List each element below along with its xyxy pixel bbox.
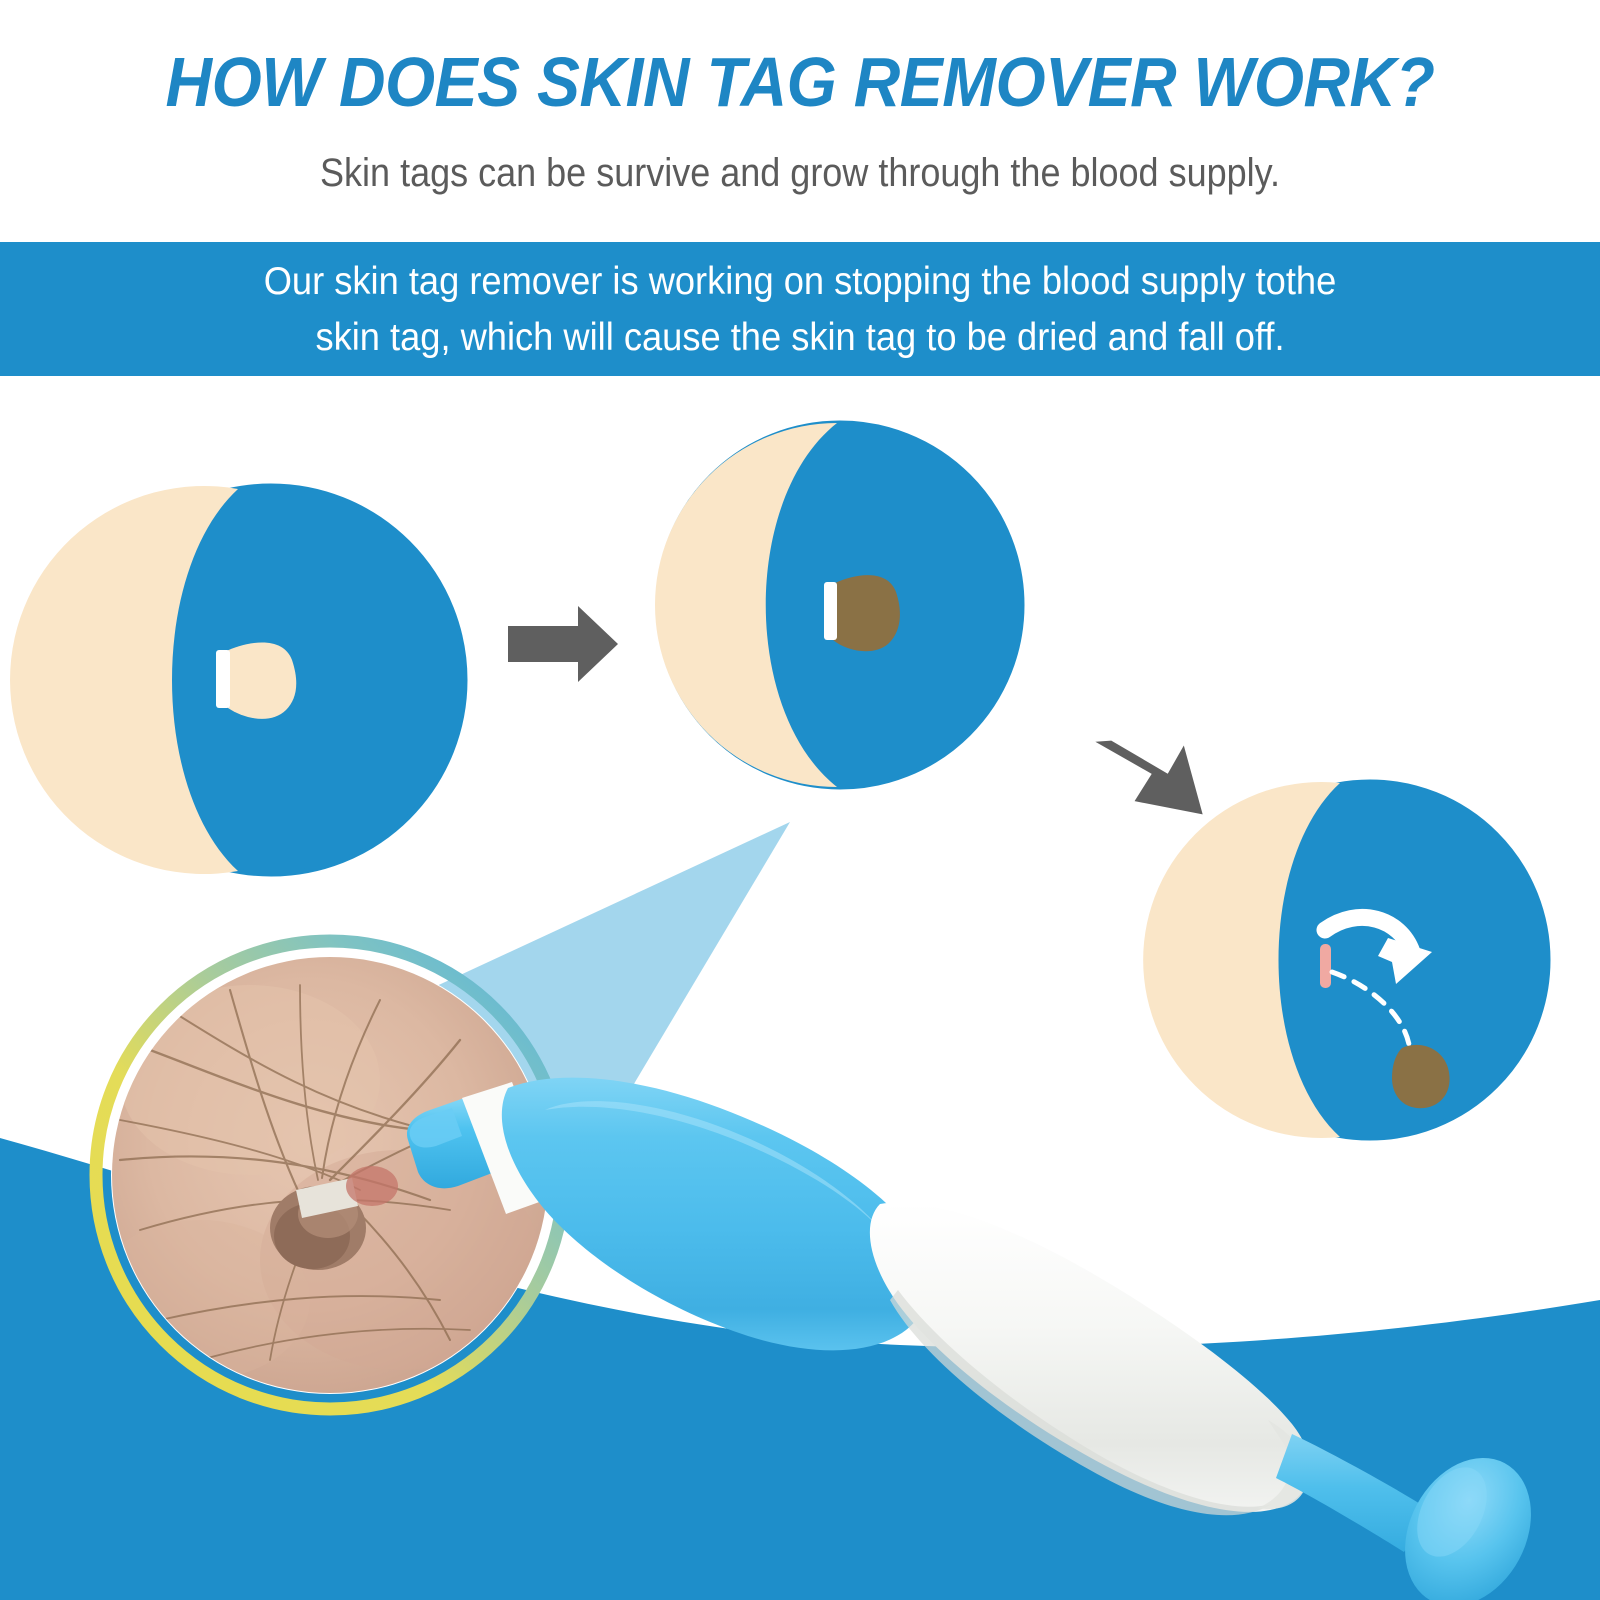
- step-3-diagram: [1143, 782, 1548, 1138]
- step-1-diagram: [10, 486, 465, 874]
- illustration-svg: [0, 0, 1600, 1600]
- skin-tag-1: [216, 642, 296, 718]
- infographic-canvas: HOW DOES SKIN TAG REMOVER WORK? Skin tag…: [0, 0, 1600, 1600]
- arrow-step1-to-step2: [508, 606, 618, 682]
- healed-spot: [1320, 944, 1331, 988]
- step-2-diagram: [655, 423, 1022, 787]
- illustration-stage: [0, 0, 1600, 1600]
- skin-tag-2-dried: [824, 575, 900, 651]
- arrow-step2-to-step3: [1095, 735, 1202, 822]
